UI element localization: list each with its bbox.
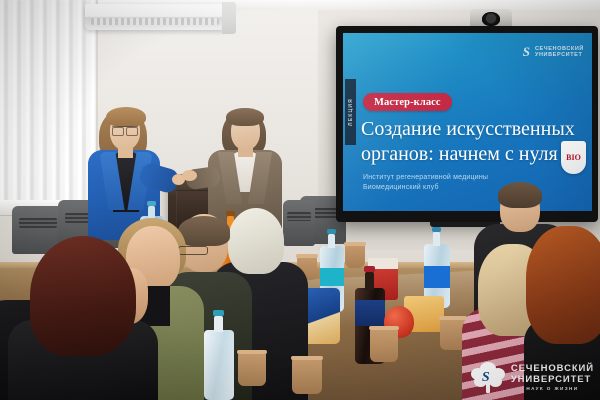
air-conditioner xyxy=(85,4,225,30)
paper-cup xyxy=(292,358,322,394)
bottle-neck xyxy=(328,234,335,248)
air-conditioner-vent xyxy=(91,18,219,25)
bottle-label xyxy=(320,268,344,286)
bottle-label xyxy=(355,300,385,326)
paper-cup xyxy=(238,352,266,386)
bottle-cap xyxy=(147,201,156,206)
bottle-label xyxy=(424,266,450,288)
sheer-curtain xyxy=(0,0,96,208)
watermark-s-glyph: S xyxy=(482,370,490,386)
slide-title-line2: органов: начнем с нуля xyxy=(361,142,592,167)
slide-crest-text: BIO xyxy=(566,154,581,162)
slide-crest-icon: BIO xyxy=(561,141,586,174)
bottle-cap xyxy=(226,211,235,216)
bottle-neck xyxy=(433,232,440,246)
sechenov-watermark: S СЕЧЕНОВСКИЙ УНИВЕРСИТЕТ НАУК О ЖИЗНИ xyxy=(471,362,594,394)
watermark-line1: СЕЧЕНОВСКИЙ xyxy=(511,363,594,374)
bottle-cap xyxy=(213,310,224,316)
slide-logo-line2: УНИВЕРСИТЕТ xyxy=(535,52,584,59)
slide-logo-text: СЕЧЕНОВСКИЙ УНИВЕРСИТЕТ xyxy=(535,46,584,59)
watermark-line3: НАУК О ЖИЗНИ xyxy=(511,385,594,393)
presentation-screen[interactable]: ЛЕКЦИЯ S СЕЧЕНОВСКИЙ УНИВЕРСИТЕТ Мастер-… xyxy=(336,26,598,222)
attendee-hair xyxy=(30,236,136,356)
slide-title-line1: Создание искусственных xyxy=(361,117,592,142)
bottle-cap xyxy=(432,227,441,232)
bottle-cap xyxy=(327,229,336,234)
office-chair xyxy=(283,200,315,246)
bottle-neck xyxy=(365,272,374,290)
glasses-icon xyxy=(178,246,208,255)
attendee-hair xyxy=(526,226,600,344)
camera-lens-icon xyxy=(482,12,500,26)
slide-title: Создание искусственных органов: начнем с… xyxy=(361,117,592,167)
watermark-line2: УНИВЕРСИТЕТ xyxy=(511,374,594,385)
speaker-hair-front xyxy=(106,107,146,127)
bottle-neck xyxy=(148,206,155,218)
slide-badge: Мастер-класс xyxy=(363,93,452,111)
bottle-cap xyxy=(364,266,375,272)
paper-cup xyxy=(345,244,365,268)
window xyxy=(0,0,96,208)
sechenov-s-icon: S xyxy=(523,44,530,60)
slide-rail-text: ЛЕКЦИЯ xyxy=(348,98,354,126)
photo-scene: ЛЕКЦИЯ S СЕЧЕНОВСКИЙ УНИВЕРСИТЕТ Мастер-… xyxy=(0,0,600,400)
air-conditioner-side xyxy=(222,2,236,34)
speaker-hand xyxy=(182,170,197,181)
tree-logo-icon: S xyxy=(471,362,505,394)
bottle-neck xyxy=(214,316,223,332)
paper-cup xyxy=(370,328,398,362)
slide-university-logo: S СЕЧЕНОВСКИЙ УНИВЕРСИТЕТ xyxy=(523,44,584,60)
glasses-icon xyxy=(112,126,138,133)
slide-side-rail: ЛЕКЦИЯ xyxy=(345,79,356,145)
speaker-hair-front xyxy=(226,108,264,126)
watermark-text: СЕЧЕНОВСКИЙ УНИВЕРСИТЕТ НАУК О ЖИЗНИ xyxy=(511,363,594,393)
attendee-hair xyxy=(178,216,230,246)
slide-surface: ЛЕКЦИЯ S СЕЧЕНОВСКИЙ УНИВЕРСИТЕТ Мастер-… xyxy=(343,33,592,211)
water-bottle xyxy=(204,330,234,400)
